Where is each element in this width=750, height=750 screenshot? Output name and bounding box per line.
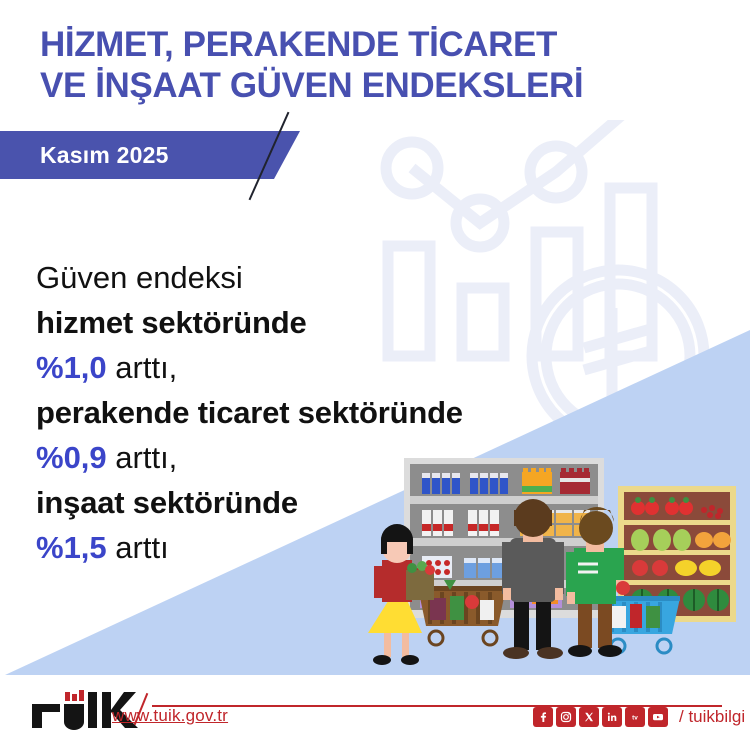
svg-text:tv: tv xyxy=(632,715,638,722)
title-line-1: HİZMET, PERAKENDE TİCARET xyxy=(40,24,740,65)
summary-line-2: hizmet sektöründe xyxy=(36,300,656,345)
stat-suffix-retail: arttı, xyxy=(107,440,178,475)
page-title: HİZMET, PERAKENDE TİCARET VE İNŞAAT GÜVE… xyxy=(40,24,740,106)
summary-line-4: perakende ticaret sektöründe xyxy=(36,390,656,435)
supermarket-shoppers-illustration xyxy=(360,448,748,673)
tv-icon[interactable]: tv xyxy=(625,707,645,727)
social-handle: / tuikbilgi xyxy=(679,707,745,727)
instagram-icon[interactable] xyxy=(556,707,576,727)
linkedin-icon[interactable] xyxy=(602,707,622,727)
date-banner: Kasım 2025 xyxy=(0,131,320,179)
x-twitter-icon[interactable] xyxy=(579,707,599,727)
stat-value-services: %1,0 xyxy=(36,350,107,385)
website-url[interactable]: www.tuik.gov.tr xyxy=(112,706,228,726)
stat-suffix-services: arttı, xyxy=(107,350,178,385)
summary-line-1: Güven endeksi xyxy=(36,255,656,300)
facebook-icon[interactable] xyxy=(533,707,553,727)
infographic-poster: HİZMET, PERAKENDE TİCARET VE İNŞAAT GÜVE… xyxy=(0,0,750,750)
date-label: Kasım 2025 xyxy=(40,142,169,169)
stat-suffix-construction: arttı xyxy=(107,530,169,565)
social-links: tv / tuikbilgi xyxy=(533,707,745,727)
title-line-2: VE İNŞAAT GÜVEN ENDEKSLERİ xyxy=(40,65,740,106)
summary-line-3: %1,0 arttı, xyxy=(36,345,656,390)
stat-value-construction: %1,5 xyxy=(36,530,107,565)
stat-value-retail: %0,9 xyxy=(36,440,107,475)
youtube-icon[interactable] xyxy=(648,707,668,727)
